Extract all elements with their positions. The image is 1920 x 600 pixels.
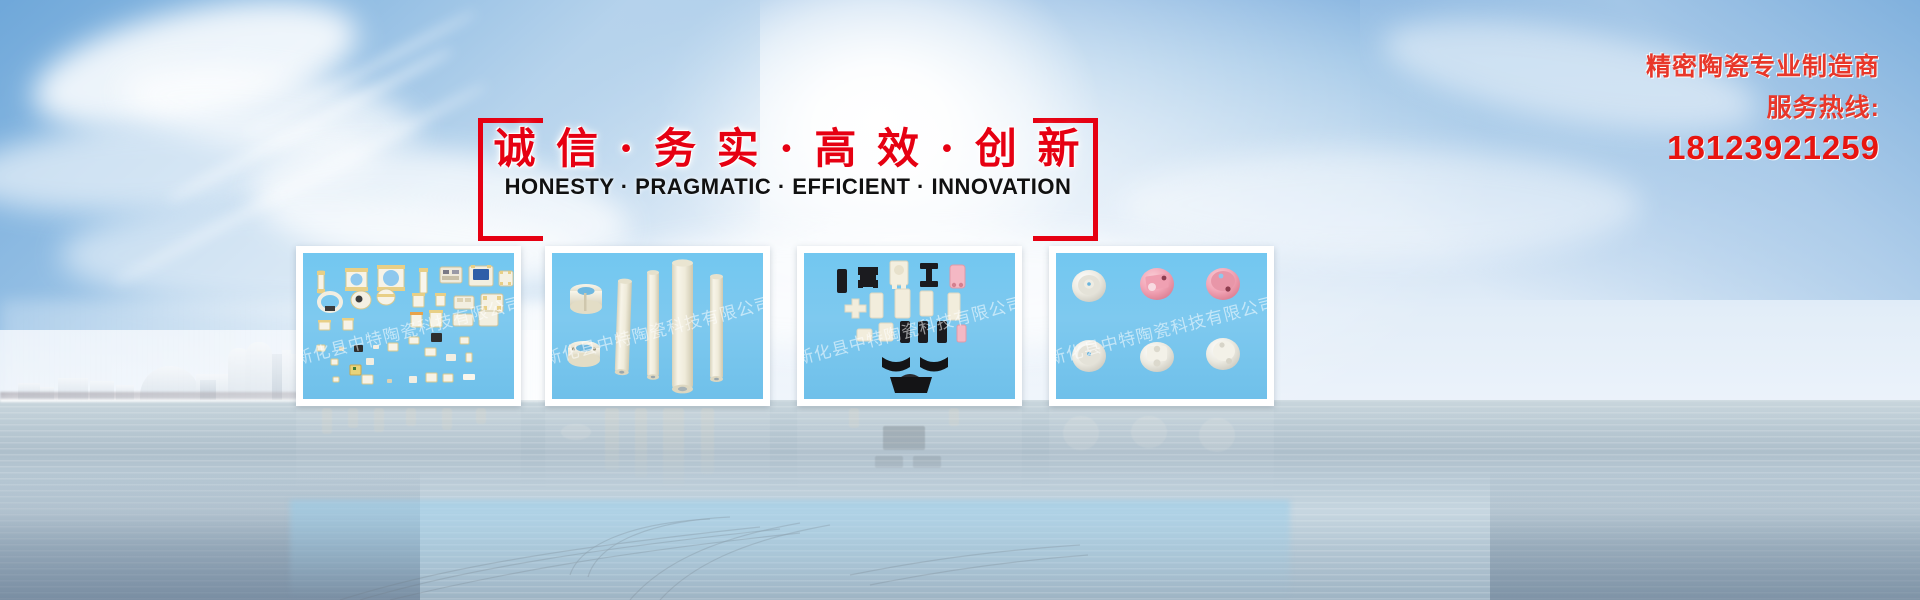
tire-tracks — [330, 505, 1090, 600]
hotline-label: 服务热线: — [1550, 88, 1880, 128]
panel-reflection — [296, 408, 521, 498]
product-panel-row: 新化县中特陶瓷科技有限公司 — [296, 246, 1558, 406]
ceramic-nozzles-illustration — [1056, 253, 1267, 399]
product-panel-ceramic-blocks[interactable]: 新化县中特陶瓷科技有限公司 — [797, 246, 1022, 406]
panel-reflection — [797, 408, 1022, 498]
banner-stage: 诚 信 · 务 实 · 高 效 · 创 新 HONESTY · PRAGMATI… — [0, 0, 1920, 600]
slogan-chinese: 诚 信 · 务 实 · 高 效 · 创 新 — [478, 120, 1098, 178]
slogan-english: HONESTY · PRAGMATIC · EFFICIENT · INNOVA… — [478, 174, 1098, 200]
contact-block: 精密陶瓷专业制造商 服务热线: 18123921259 — [1550, 50, 1880, 168]
ceramic-tubes-illustration — [552, 253, 763, 399]
hotline-number[interactable]: 18123921259 — [1550, 128, 1880, 168]
product-panel-ceramic-nozzles[interactable]: 新化县中特陶瓷科技有限公司 — [1049, 246, 1274, 406]
panel-reflection — [545, 408, 770, 498]
product-panel-ceramic-tubes[interactable]: 新化县中特陶瓷科技有限公司 — [545, 246, 770, 406]
ground-shadow-right — [1490, 470, 1920, 600]
product-panel-smd-components[interactable]: 新化县中特陶瓷科技有限公司 — [296, 246, 521, 406]
company-tagline: 精密陶瓷专业制造商 — [1550, 50, 1880, 84]
smd-components-illustration — [303, 253, 514, 399]
ceramic-blocks-illustration — [804, 253, 1015, 399]
slogan-block: 诚 信 · 务 实 · 高 效 · 创 新 HONESTY · PRAGMATI… — [478, 112, 1098, 232]
panel-reflection — [1049, 408, 1274, 498]
